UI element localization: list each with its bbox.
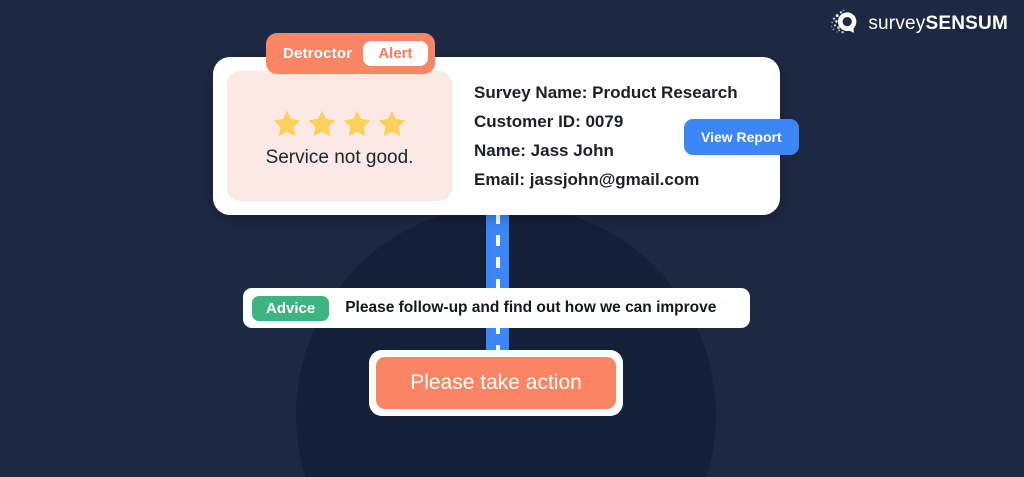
detractor-label: Detroctor (283, 45, 352, 62)
view-report-button[interactable]: View Report (684, 119, 799, 155)
brand-name: surveySENSUM (868, 13, 1008, 35)
road-dashes (496, 213, 500, 353)
advice-bar: Advice Please follow-up and find out how… (243, 288, 750, 328)
brand-name-light: survey (868, 13, 925, 34)
detail-survey-name: Survey Name: Product Research (474, 83, 738, 103)
star-icon (340, 107, 374, 141)
advice-text: Please follow-up and find out how we can… (345, 299, 716, 317)
rating-panel: Service not good. (227, 71, 452, 201)
rating-comment: Service not good. (266, 147, 414, 169)
star-rating (270, 107, 409, 141)
detail-email: Email: jassjohn@gmail.com (474, 170, 738, 190)
brand-name-bold: SENSUM (926, 13, 1009, 34)
star-icon (375, 107, 409, 141)
alert-chip[interactable]: Alert (363, 41, 427, 66)
survey-bubble-icon (830, 9, 860, 39)
star-icon (305, 107, 339, 141)
advice-pill: Advice (252, 296, 329, 321)
detractor-alert-badge: Detroctor Alert (266, 33, 435, 74)
star-icon (270, 107, 304, 141)
dashed-road-connector (486, 213, 509, 353)
take-action-container: Please take action (369, 350, 623, 416)
take-action-button[interactable]: Please take action (376, 357, 616, 409)
brand-logo: surveySENSUM (830, 9, 1008, 39)
